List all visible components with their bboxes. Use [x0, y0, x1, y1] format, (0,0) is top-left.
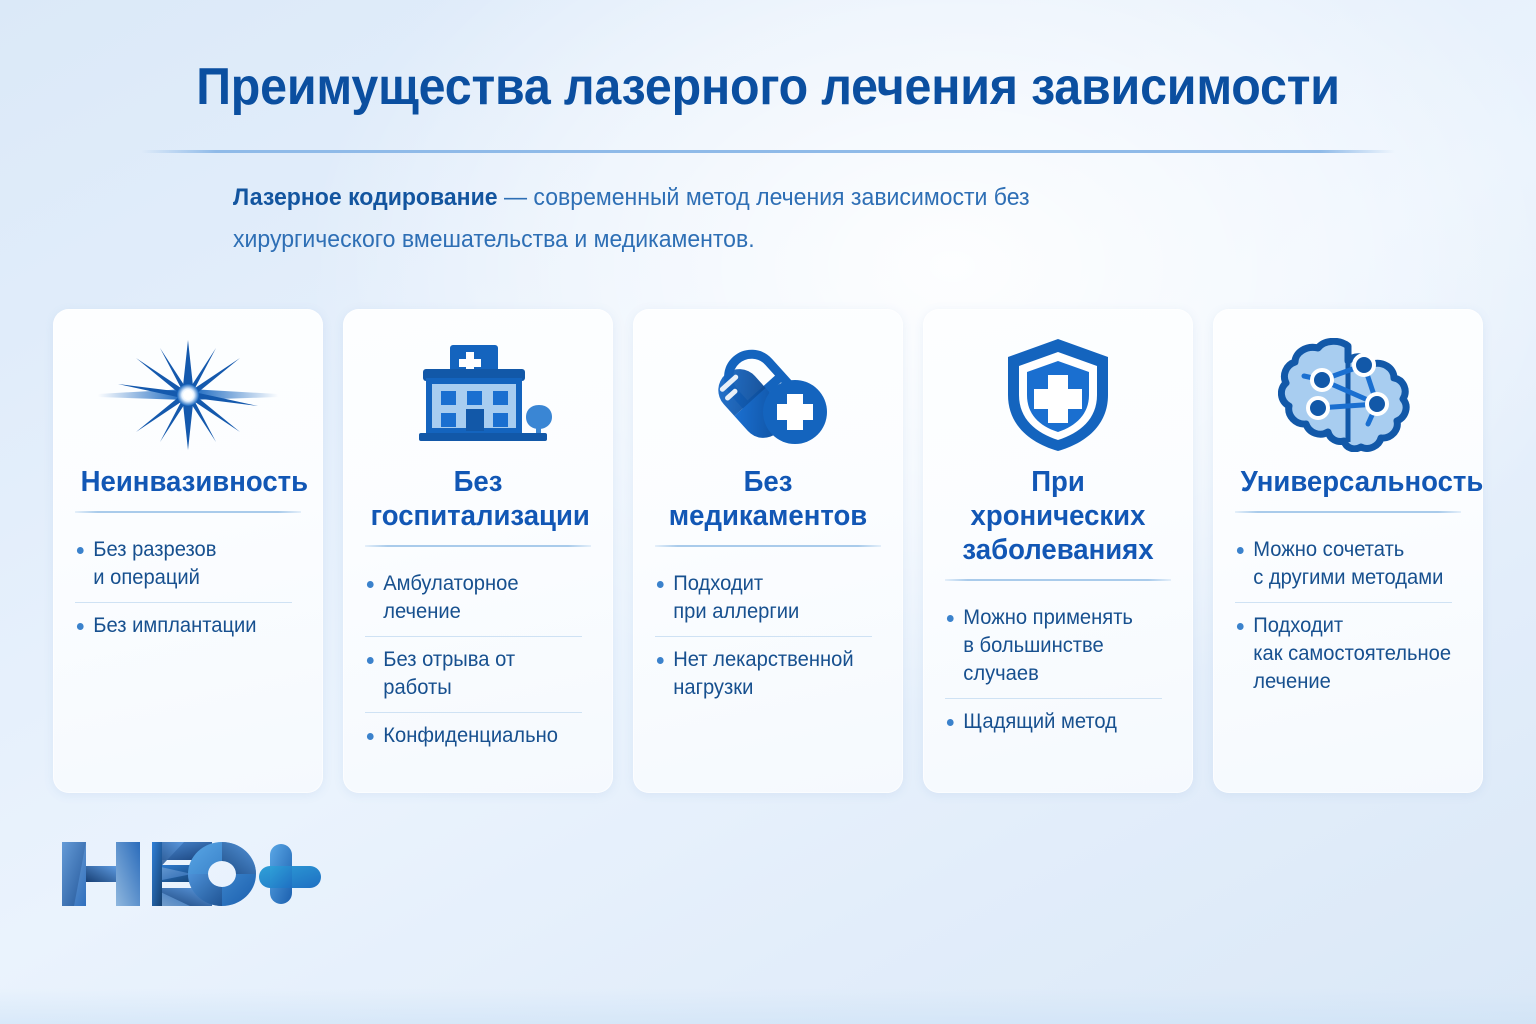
hospital-building-icon [365, 333, 591, 457]
brain-network-icon [1235, 333, 1461, 457]
card-title-divider [1235, 511, 1461, 513]
bullet-dot-icon [77, 623, 84, 630]
bullet-text: Можно применять в большинстве случаев [963, 604, 1162, 688]
subtitle-strong: Лазерное кодирование [233, 184, 498, 211]
bullet-dot-icon [367, 733, 374, 740]
benefit-card-chronic-diseases[interactable]: При хронических заболеваниях Можно приме… [923, 309, 1193, 793]
title-divider [141, 150, 1395, 153]
card-title-divider [945, 579, 1171, 581]
bullet-text: Подходит при аллергии [673, 570, 799, 626]
benefit-cards-row: Неинвазивность Без разрезов и операций Б… [53, 309, 1483, 793]
card-title: Универсальность [1241, 465, 1456, 507]
list-item: Можно применять в большинстве случаев [945, 595, 1162, 698]
bullet-dot-icon [947, 719, 954, 726]
card-title-divider [75, 511, 301, 513]
list-item: Без отрыва от работы [365, 636, 582, 712]
page-title: Преимущества лазерного лечения зависимос… [54, 57, 1482, 117]
list-item: Амбулаторное лечение [365, 561, 582, 636]
laser-burst-icon [75, 333, 301, 457]
list-item: Подходит как самостоятельное лечение [1235, 602, 1452, 706]
infographic-page: Преимущества лазерного лечения зависимос… [0, 0, 1536, 1024]
list-item: Нет лекарственной нагрузки [655, 636, 872, 712]
bullet-text: Амбулаторное лечение [383, 570, 518, 626]
bullet-text: Можно сочетать с другими методами [1253, 536, 1443, 592]
card-title: При хронических заболеваниях [951, 465, 1166, 575]
list-item: Подходит при аллергии [655, 561, 872, 636]
bullet-text: Конфиденциально [383, 722, 558, 750]
list-item: Конфиденциально [365, 712, 582, 760]
card-title-divider [655, 545, 881, 547]
card-title: Без госпитализации [371, 465, 586, 541]
card-title-divider [365, 545, 591, 547]
card-title: Неинвазивность [81, 465, 296, 507]
bullet-dot-icon [367, 657, 374, 664]
list-item: Без имплантации [75, 602, 292, 650]
bullet-dot-icon [657, 657, 664, 664]
bullet-dot-icon [1237, 547, 1244, 554]
bullet-text: Без имплантации [93, 612, 256, 640]
pill-capsule-icon [655, 333, 881, 457]
benefit-card-no-medication[interactable]: Без медикаментов Подходит при аллергии Н… [633, 309, 903, 793]
list-item: Без разрезов и операций [75, 527, 292, 602]
bullet-dot-icon [947, 615, 954, 622]
subtitle: Лазерное кодирование — современный метод… [233, 177, 1174, 261]
card-title: Без медикаментов [661, 465, 876, 541]
benefit-card-universality[interactable]: Универсальность Можно сочетать с другими… [1213, 309, 1483, 793]
bullet-text: Нет лекарственной нагрузки [673, 646, 853, 702]
benefit-card-noninvasive[interactable]: Неинвазивность Без разрезов и операций Б… [53, 309, 323, 793]
neo-plus-logo[interactable] [60, 838, 330, 910]
bullet-text: Подходит как самостоятельное лечение [1253, 612, 1451, 696]
footer-gradient-band [0, 988, 1536, 1024]
list-item: Можно сочетать с другими методами [1235, 527, 1452, 602]
bullet-text: Без отрыва от работы [383, 646, 582, 702]
bullet-list: Без разрезов и операций Без имплантации [75, 527, 301, 650]
bullet-list: Можно применять в большинстве случаев Ща… [945, 595, 1171, 746]
benefit-card-no-hospitalization[interactable]: Без госпитализации Амбулаторное лечение … [343, 309, 613, 793]
list-item: Щадящий метод [945, 698, 1162, 746]
bullet-dot-icon [77, 547, 84, 554]
bullet-text: Без разрезов и операций [93, 536, 216, 592]
bullet-list: Подходит при аллергии Нет лекарственной … [655, 561, 881, 712]
bullet-dot-icon [367, 581, 374, 588]
bullet-list: Можно сочетать с другими методами Подход… [1235, 527, 1461, 706]
bullet-dot-icon [1237, 623, 1244, 630]
bullet-text: Щадящий метод [963, 708, 1117, 736]
bullet-list: Амбулаторное лечение Без отрыва от работ… [365, 561, 591, 760]
bullet-dot-icon [657, 581, 664, 588]
shield-cross-icon [945, 333, 1171, 457]
